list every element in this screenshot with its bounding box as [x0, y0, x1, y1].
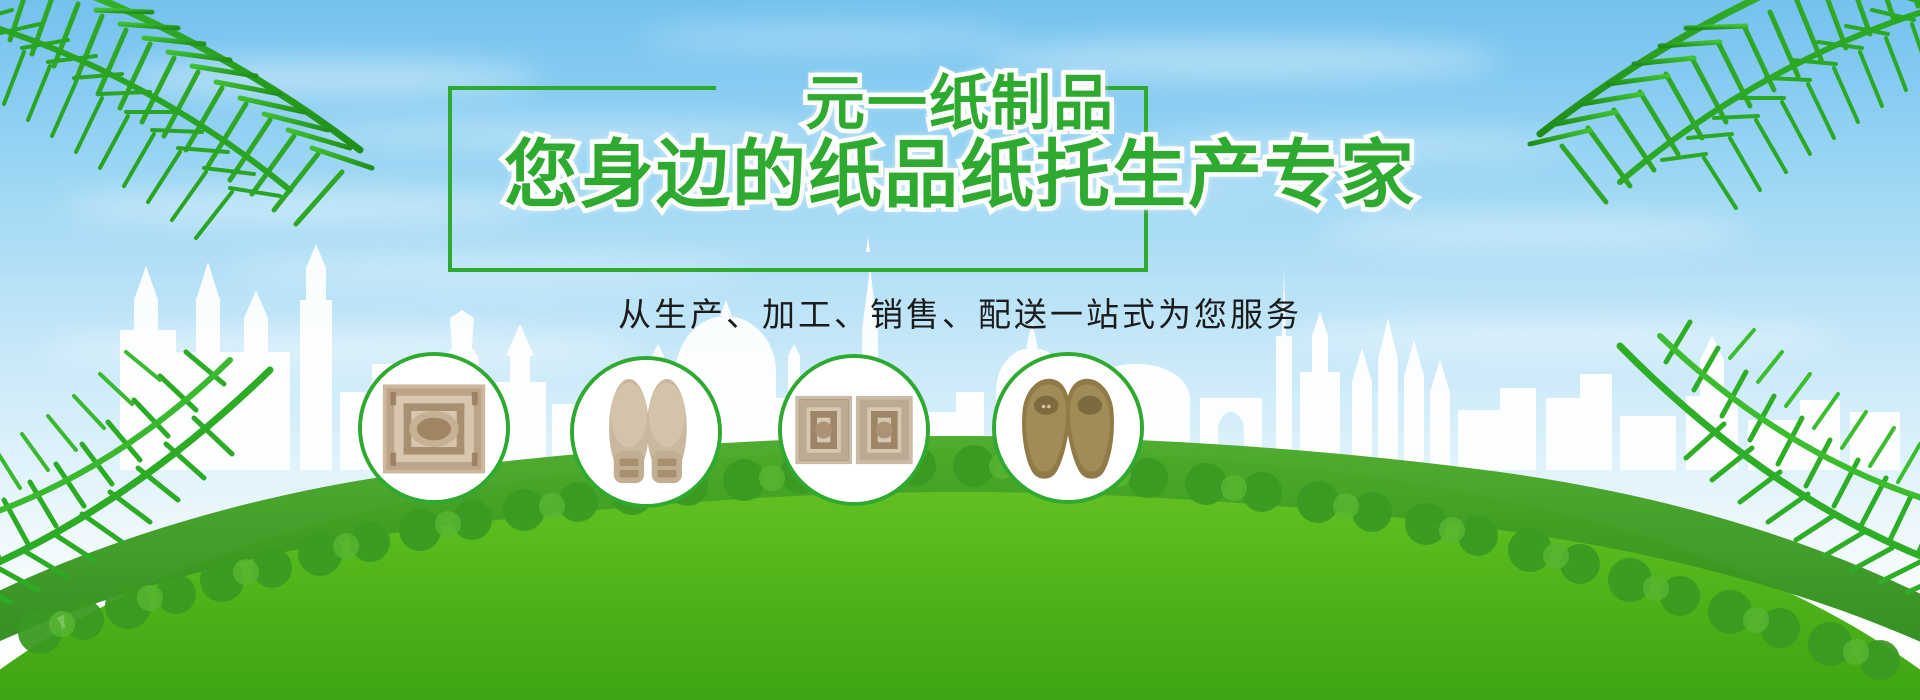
- svg-text:●●: ●●: [1041, 401, 1051, 411]
- product-circle-2[interactable]: [570, 356, 722, 508]
- headline-block: 元一纸制品 您身边的纸品纸托生产专家: [0, 86, 1920, 286]
- product-circle-3[interactable]: [778, 354, 930, 506]
- molded-pulp-shoe-insert-pair-icon: ●●: [996, 356, 1140, 500]
- headline-line1: 元一纸制品: [0, 74, 1920, 134]
- product-circle-4[interactable]: ●●: [992, 352, 1144, 504]
- molded-pulp-shoe-tree-pair-icon: [574, 360, 718, 504]
- headline-line2: 您身边的纸品纸托生产专家: [0, 138, 1920, 212]
- molded-pulp-corner-protectors-icon: [782, 358, 926, 502]
- product-circle-1[interactable]: [358, 352, 510, 504]
- banner-subtitle: 从生产、加工、销售、配送一站式为您服务: [0, 288, 1920, 336]
- product-circle-row: ●●: [0, 352, 1920, 512]
- molded-pulp-square-tray-icon: [362, 356, 506, 500]
- promo-banner: 元一纸制品 您身边的纸品纸托生产专家 从生产、加工、销售、配送一站式为您服务: [0, 0, 1920, 700]
